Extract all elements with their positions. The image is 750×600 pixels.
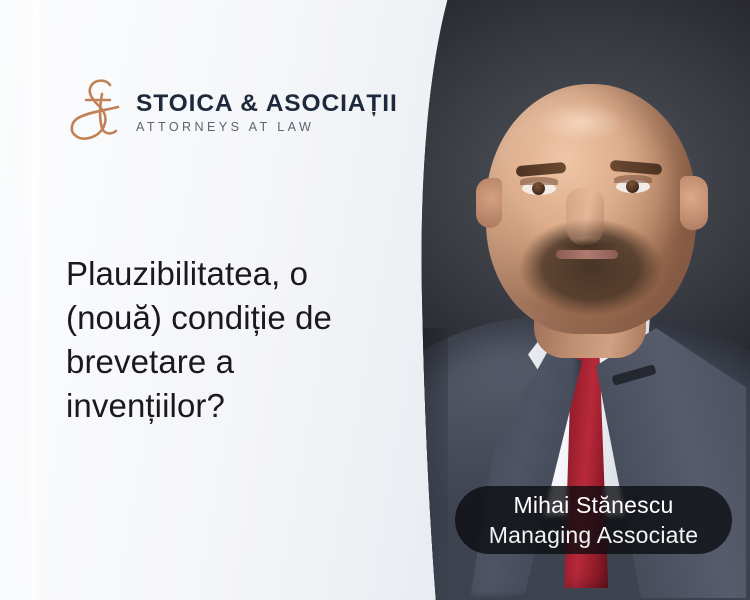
person-role: Managing Associate	[489, 521, 698, 550]
st-monogram-icon	[66, 76, 124, 150]
brand-wordmark: STOICA & ASOCIAȚII ATTORNEYS AT LAW	[136, 92, 398, 133]
brand-tagline: ATTORNEYS AT LAW	[136, 121, 398, 134]
social-card: STOICA & ASOCIAȚII ATTORNEYS AT LAW Plau…	[0, 0, 750, 600]
ear-left	[476, 178, 502, 228]
person-name-badge: Mihai Stănescu Managing Associate	[455, 486, 732, 554]
ear-right	[680, 176, 708, 230]
scalp-highlight	[520, 94, 640, 150]
brand-logo: STOICA & ASOCIAȚII ATTORNEYS AT LAW	[66, 76, 398, 150]
brand-name: STOICA & ASOCIAȚII	[136, 92, 398, 117]
eyelid-left	[520, 177, 558, 185]
eyelid-right	[614, 175, 652, 183]
person-name: Mihai Stănescu	[513, 491, 673, 520]
mouth	[556, 250, 618, 259]
headline-text: Plauzibilitatea, o (nouă) condiție de br…	[66, 252, 376, 428]
